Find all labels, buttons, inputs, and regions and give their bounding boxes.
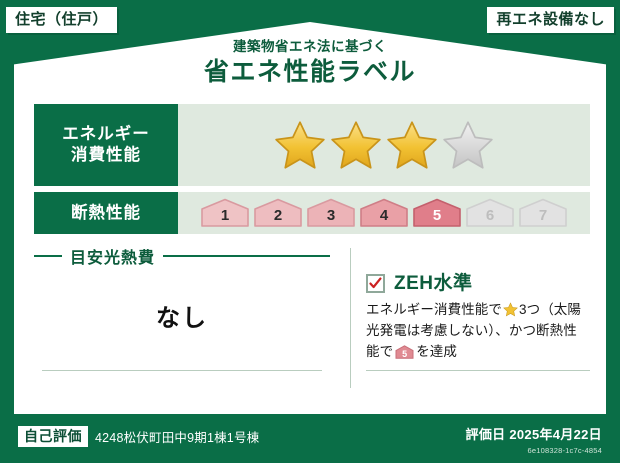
insulation-level-label: 3 [327,208,335,228]
house-icon-level: 5 [395,350,414,359]
star-rating [274,119,494,171]
energy-performance-row: エネルギー 消費性能 [34,104,590,186]
utility-cost-section: 目安光熱費 なし [34,242,330,400]
label-card: エネルギー 消費性能 断熱性能 1234567 [14,92,606,414]
zeh-checkbox[interactable] [366,274,385,293]
insulation-level-label: 7 [539,208,547,228]
zeh-bottom-rule [366,370,590,371]
zeh-description: エネルギー消費性能で3つ（太陽光発電は考慮しない）、かつ断熱性能で5を達成 [366,300,590,363]
utility-cost-bottom-rule [42,370,322,371]
self-evaluation-badge: 自己評価 [18,426,88,447]
star-icon-filled [330,119,382,171]
insulation-level-1: 1 [200,198,250,228]
energy-performance-stars-cell [178,104,590,186]
header-subtitle: 建築物省エネ法に基づく [0,40,620,54]
footer-left: 自己評価 4248松伏町田中9期1棟1号棟 [18,426,259,447]
insulation-level-3: 3 [306,198,356,228]
evaluation-date-value: 2025年4月22日 [509,427,602,442]
lower-section: 目安光熱費 なし ZEH水準 エネルギー消費性能で3つ（太陽 [34,242,590,400]
star-icon-filled [274,119,326,171]
energy-performance-label: 住宅（住戸） 再エネ設備なし 建築物省エネ法に基づく 省エネ性能ラベル エネルギ… [0,0,620,463]
utility-cost-value: なし [34,298,330,333]
insulation-level-2: 2 [253,198,303,228]
insulation-label: 断熱性能 [71,203,141,224]
page-title: 省エネ性能ラベル [0,60,620,85]
star-icon-filled [386,119,438,171]
star-icon [503,302,518,317]
insulation-level-label: 2 [274,208,282,228]
insulation-performance-row: 断熱性能 1234567 [34,192,590,234]
insulation-level-label: 1 [221,208,229,228]
evaluation-date-label: 評価日 [466,427,506,442]
insulation-performance-scale-cell: 1234567 [178,192,590,234]
heading-rule-right [163,255,330,257]
zeh-heading: ZEH水準 [366,274,590,293]
zeh-section: ZEH水準 エネルギー消費性能で3つ（太陽光発電は考慮しない）、かつ断熱性能で5… [330,242,590,400]
energy-performance-label-cell: エネルギー 消費性能 [34,104,178,186]
insulation-level-6: 6 [465,198,515,228]
utility-cost-heading: 目安光熱費 [34,244,330,268]
housing-type-tag: 住宅（住戸） [6,7,117,33]
footer-right: 評価日 2025年4月22日 6e108328-1c7c-4854 [466,424,602,455]
zeh-title: ZEH水準 [394,274,473,293]
insulation-level-5: 5 [412,198,462,228]
evaluation-date: 評価日 2025年4月22日 [466,424,602,443]
renewable-energy-tag: 再エネ設備なし [487,7,614,33]
label-uid: 6e108328-1c7c-4854 [466,446,602,455]
insulation-level-label: 4 [380,208,388,228]
utility-cost-heading-text: 目安光熱費 [70,244,155,268]
insulation-level-4: 4 [359,198,409,228]
zeh-desc-part3: を達成 [416,344,457,359]
energy-label-line2: 消費性能 [71,145,141,166]
heading-rule-left [34,255,62,257]
label-footer: 自己評価 4248松伏町田中9期1棟1号棟 評価日 2025年4月22日 6e1… [0,414,620,463]
header-title-block: 建築物省エネ法に基づく 省エネ性能ラベル [0,40,620,85]
insulation-level-7: 7 [518,198,568,228]
building-name: 4248松伏町田中9期1棟1号棟 [95,427,259,446]
star-icon-empty [442,119,494,171]
insulation-level-label: 5 [433,208,441,228]
energy-label-line1: エネルギー [62,124,150,145]
house-icon: 5 [395,345,414,359]
insulation-performance-label-cell: 断熱性能 [34,192,178,234]
check-icon [369,277,382,290]
insulation-level-scale: 1234567 [200,198,568,228]
zeh-desc-part1: エネルギー消費性能で [366,302,502,317]
rating-rows: エネルギー 消費性能 断熱性能 1234567 [34,104,590,234]
insulation-level-label: 6 [486,208,494,228]
